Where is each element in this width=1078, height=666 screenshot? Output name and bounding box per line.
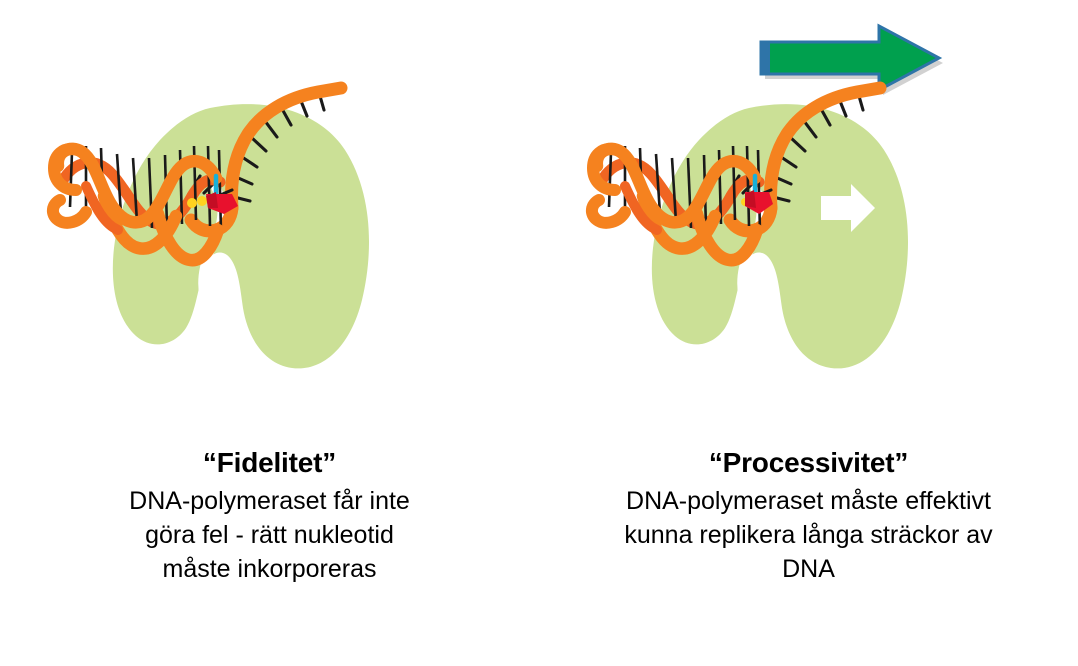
- panel-body-fidelity: DNA-polymeraset får inte göra fel - rätt…: [0, 484, 539, 586]
- slide-canvas: “Fidelitet” DNA-polymeraset får inte gör…: [0, 0, 1078, 666]
- panel-body-processivity: DNA-polymeraset måste effektivt kunna re…: [539, 484, 1078, 586]
- caption-line: DNA-polymeraset måste effektivt: [567, 484, 1050, 518]
- caption-line: måste inkorporeras: [28, 552, 511, 586]
- motion-arrow-tail-band: [761, 42, 770, 74]
- panel-title-fidelity: “Fidelitet”: [0, 444, 539, 482]
- panel-title-processivity: “Processivitet”: [539, 444, 1078, 482]
- panel-fidelity: “Fidelitet” DNA-polymeraset får inte gör…: [0, 0, 539, 666]
- dna-polymerase-processivity-illustration: [539, 0, 1078, 430]
- caption-fidelity: “Fidelitet” DNA-polymeraset får inte gör…: [0, 444, 539, 586]
- nucleotide-dot: [197, 196, 207, 206]
- nucleotide-dot: [187, 198, 197, 208]
- green-right-arrow-icon: [761, 26, 943, 95]
- caption-line: DNA-polymeraset får inte: [28, 484, 511, 518]
- caption-line: DNA: [567, 552, 1050, 586]
- motion-arrow-body: [761, 26, 939, 90]
- caption-line: göra fel - rätt nukleotid: [28, 518, 511, 552]
- caption-line: kunna replikera långa sträckor av: [567, 518, 1050, 552]
- caption-processivity: “Processivitet” DNA-polymeraset måste ef…: [539, 444, 1078, 586]
- panel-processivity: “Processivitet” DNA-polymeraset måste ef…: [539, 0, 1078, 666]
- dna-polymerase-fidelity-illustration: [0, 0, 539, 430]
